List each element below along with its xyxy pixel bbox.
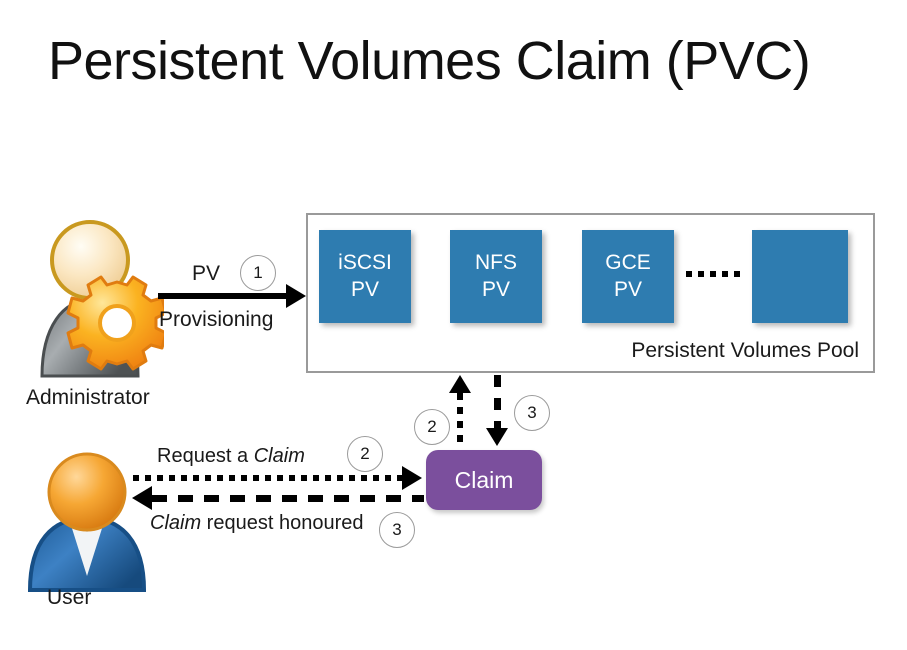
claim-to-pool-arrow-line xyxy=(457,393,463,448)
pv-box-gce[interactable]: GCE PV xyxy=(582,230,674,323)
page-title: Persistent Volumes Claim (PVC) xyxy=(48,30,810,92)
claim-honoured-label-suffix: request honoured xyxy=(201,512,363,534)
claim-honoured-arrow-head xyxy=(132,486,152,510)
pool-label: Persistent Volumes Pool xyxy=(631,339,859,363)
request-claim-arrow-head xyxy=(402,466,422,490)
pv-provisioning-label-top: PV xyxy=(192,262,220,286)
pv-box-nfs[interactable]: NFS PV xyxy=(450,230,542,323)
pv-box-nfs-line1: NFS xyxy=(475,250,517,277)
claim-box[interactable]: Claim xyxy=(426,450,542,510)
pv-box-iscsi[interactable]: iSCSI PV xyxy=(319,230,411,323)
pv-box-gce-line2: PV xyxy=(614,277,642,304)
pv-box-iscsi-line2: PV xyxy=(351,277,379,304)
step-badge-2-request: 2 xyxy=(347,436,383,472)
step-badge-3-honoured: 3 xyxy=(379,512,415,548)
request-claim-arrow-line xyxy=(133,475,405,481)
pv-ellipsis-dots xyxy=(686,271,746,277)
pv-provisioning-arrow-line xyxy=(158,293,288,299)
pv-provisioning-arrow-head xyxy=(286,284,306,308)
claim-honoured-label: Claim request honoured xyxy=(150,512,363,535)
user-label: User xyxy=(47,586,91,610)
claim-honoured-label-emphasis: Claim xyxy=(150,512,201,534)
claim-honoured-arrow-line xyxy=(152,495,424,502)
user-icon xyxy=(22,450,152,595)
step-badge-3-bind: 3 xyxy=(514,395,550,431)
claim-to-pool-arrow-head xyxy=(449,375,471,393)
step-badge-2-bind: 2 xyxy=(414,409,450,445)
pool-to-claim-arrow-head xyxy=(486,428,508,446)
pool-to-claim-arrow-line xyxy=(494,375,501,430)
slide-canvas: Persistent Volumes Claim (PVC) xyxy=(0,0,907,650)
administrator-icon xyxy=(24,208,164,383)
pv-box-nfs-line2: PV xyxy=(482,277,510,304)
request-claim-label-emphasis: Claim xyxy=(254,445,305,467)
claim-box-label: Claim xyxy=(455,467,514,494)
request-claim-label-prefix: Request a xyxy=(157,445,254,467)
request-claim-label: Request a Claim xyxy=(157,445,305,468)
administrator-label: Administrator xyxy=(26,386,150,410)
pv-box-blank[interactable] xyxy=(752,230,848,323)
pv-box-iscsi-line1: iSCSI xyxy=(338,250,392,277)
pv-box-gce-line1: GCE xyxy=(605,250,651,277)
step-badge-1: 1 xyxy=(240,255,276,291)
pv-provisioning-label-bottom: Provisioning xyxy=(159,308,273,332)
